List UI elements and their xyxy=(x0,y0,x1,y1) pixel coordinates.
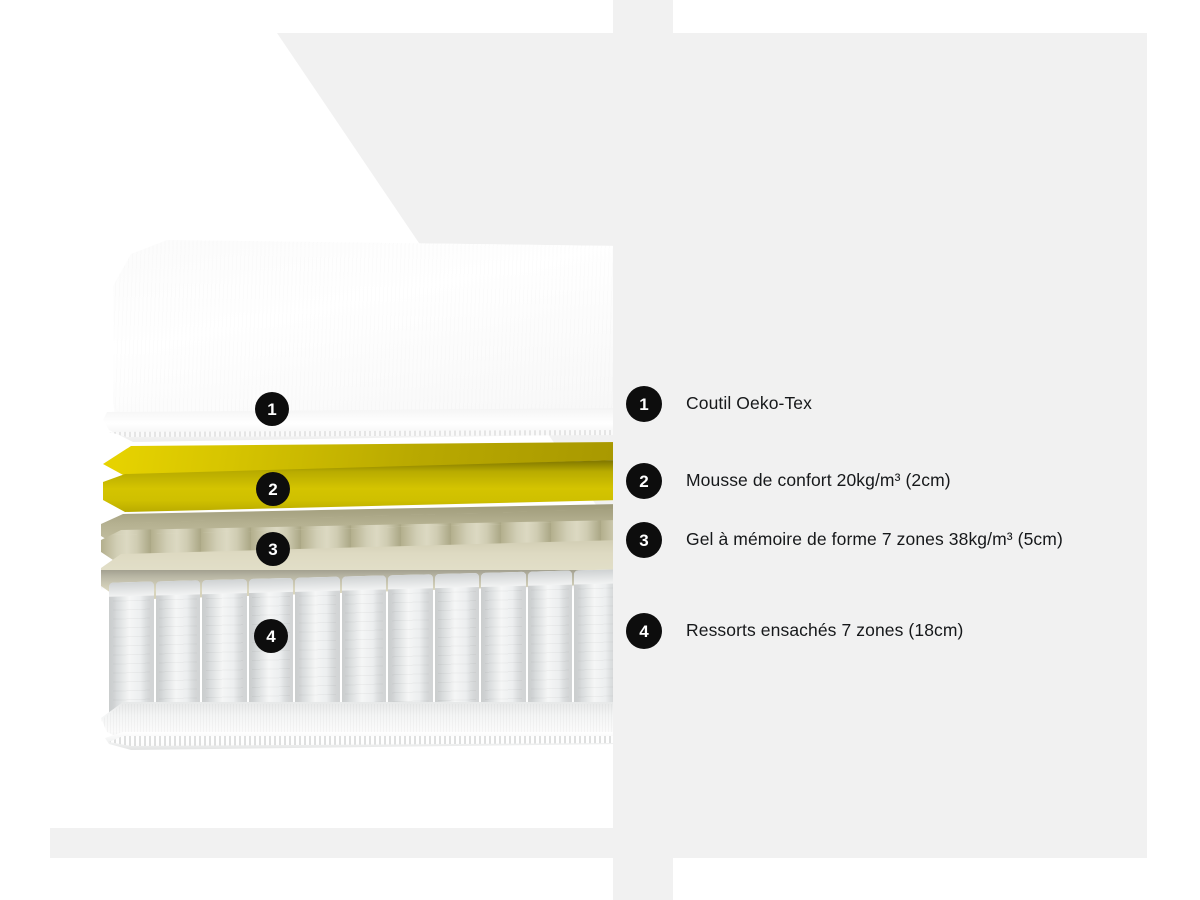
callout-badge-3[interactable]: 3 xyxy=(256,532,290,566)
legend-badge-3: 3 xyxy=(626,522,662,558)
callout-badge-1[interactable]: 1 xyxy=(255,392,289,426)
mattress-base xyxy=(95,702,620,764)
cover-side-band xyxy=(103,408,620,442)
panel-overlap-mask xyxy=(613,0,673,900)
pocket-spring xyxy=(295,577,340,720)
legend-label-3: Gel à mémoire de forme 7 zones 38kg/m³ (… xyxy=(686,522,1063,553)
diagram-canvas: 1 2 3 4 1 Coutil Oeko-Tex 2 Mousse de co… xyxy=(0,0,1200,900)
legend-label-2: Mousse de confort 20kg/m³ (2cm) xyxy=(686,463,951,494)
pocket-spring xyxy=(481,572,526,715)
legend-item-4[interactable]: 4 Ressorts ensachés 7 zones (18cm) xyxy=(626,613,963,649)
pocket-spring xyxy=(388,574,433,717)
callout-badge-2[interactable]: 2 xyxy=(256,472,290,506)
legend-label-4: Ressorts ensachés 7 zones (18cm) xyxy=(686,613,963,644)
callout-badge-4[interactable]: 4 xyxy=(254,619,288,653)
pocket-spring xyxy=(528,571,573,714)
background-bottom-strip xyxy=(50,828,1147,858)
legend-badge-4: 4 xyxy=(626,613,662,649)
mattress-illustration xyxy=(95,232,620,764)
cover-quilt-texture xyxy=(105,232,620,432)
pocket-spring xyxy=(435,573,480,716)
legend-item-1[interactable]: 1 Coutil Oeko-Tex xyxy=(626,386,812,422)
legend-badge-1: 1 xyxy=(626,386,662,422)
mattress-layer-comfort-foam xyxy=(103,442,620,512)
legend-item-3[interactable]: 3 Gel à mémoire de forme 7 zones 38kg/m³… xyxy=(626,522,1063,558)
legend-item-2[interactable]: 2 Mousse de confort 20kg/m³ (2cm) xyxy=(626,463,951,499)
legend-badge-2: 2 xyxy=(626,463,662,499)
pocket-spring xyxy=(202,579,247,722)
legend-label-1: Coutil Oeko-Tex xyxy=(686,386,812,417)
pocket-spring xyxy=(342,575,387,718)
